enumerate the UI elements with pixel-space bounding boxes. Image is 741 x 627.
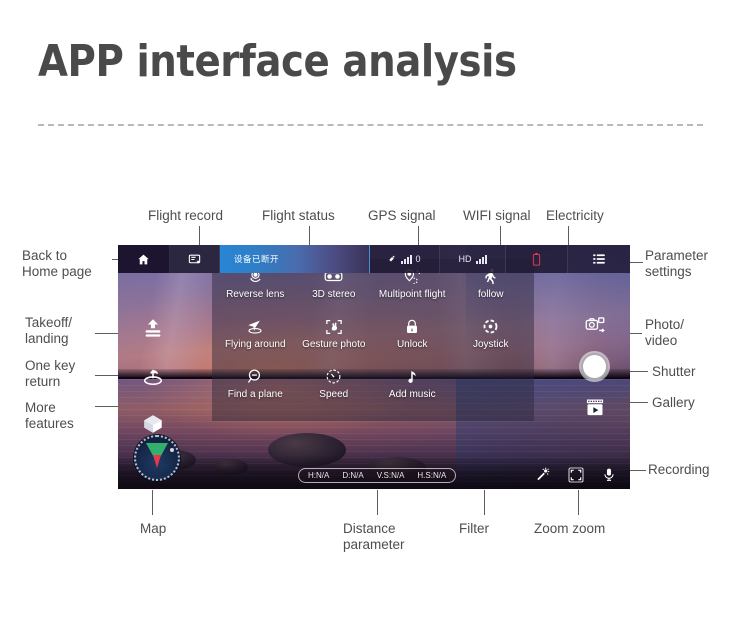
annotation-takeoff-landing: Takeoff/ landing xyxy=(25,315,72,346)
menu-label: Reverse lens xyxy=(226,289,284,300)
annotation-wifi-signal: WIFI signal xyxy=(463,208,531,224)
photo-video-switch-button[interactable] xyxy=(585,315,605,335)
gallery-icon xyxy=(585,398,605,418)
annotation-zoom-zoom: Zoom zoom xyxy=(534,521,605,537)
menu-item-follow[interactable]: follow xyxy=(452,267,531,317)
signal-bars-icon xyxy=(476,255,487,264)
leader-filter xyxy=(484,490,485,515)
photo-video-switch-icon xyxy=(585,315,605,335)
app-screen: 设备已断开 0 HD xyxy=(118,245,630,489)
annotation-recording: Recording xyxy=(648,462,710,478)
annotation-photo-video: Photo/ video xyxy=(645,317,684,348)
telemetry-height: H:N/A xyxy=(308,471,329,480)
zoom-button[interactable] xyxy=(568,467,584,483)
wifi-quality-label: HD xyxy=(459,254,472,264)
compass-map-widget[interactable] xyxy=(134,435,180,481)
compass-needle xyxy=(153,455,161,468)
satellite-icon xyxy=(388,254,398,264)
more-features-button[interactable] xyxy=(142,413,164,435)
one-key-return-button[interactable] xyxy=(142,365,164,387)
telemetry-distance: D:N/A xyxy=(342,471,363,480)
filter-button[interactable] xyxy=(534,467,550,483)
microphone-icon xyxy=(602,466,616,483)
menu-label: Add music xyxy=(389,389,436,400)
music-note-icon xyxy=(405,367,420,386)
annotation-back-to-home: Back to Home page xyxy=(22,248,92,279)
menu-label: follow xyxy=(478,289,504,300)
annotation-map: Map xyxy=(140,521,166,537)
title-divider xyxy=(38,124,703,126)
lock-icon xyxy=(404,317,420,336)
annotation-filter: Filter xyxy=(459,521,489,537)
leader-map xyxy=(152,490,153,515)
paper-plane-orbit-icon xyxy=(246,317,264,336)
speedometer-icon xyxy=(325,367,342,386)
annotation-one-key-return: One key return xyxy=(25,358,75,389)
gallery-button[interactable] xyxy=(585,398,605,418)
takeoff-landing-icon xyxy=(142,317,164,339)
battery-icon xyxy=(532,252,541,267)
menu-label: Find a plane xyxy=(228,389,283,400)
right-control-rail xyxy=(581,315,608,418)
flight-status-bar: 设备已断开 xyxy=(220,245,370,273)
one-key-return-icon xyxy=(142,365,164,387)
menu-item-3d-stereo[interactable]: 3D stereo xyxy=(295,267,374,317)
menu-label: Joystick xyxy=(473,339,509,350)
menu-label: Flying around xyxy=(225,339,286,350)
joystick-ring-icon xyxy=(482,317,499,336)
slide-root: APP interface analysis Flight record Fli… xyxy=(0,0,741,627)
flight-status-text: 设备已断开 xyxy=(234,253,279,265)
flight-record-icon xyxy=(188,253,201,266)
recording-button[interactable] xyxy=(602,466,616,483)
bottom-tool-bar xyxy=(534,466,616,483)
home-icon xyxy=(137,253,150,266)
annotation-gps-signal: GPS signal xyxy=(368,208,436,224)
shutter-button[interactable] xyxy=(581,353,608,380)
more-features-cube-icon xyxy=(142,413,164,435)
wifi-signal-indicator[interactable]: HD xyxy=(440,245,506,273)
menu-item-find-a-plane[interactable]: Find a plane xyxy=(216,367,295,417)
signal-bars-icon xyxy=(401,255,412,264)
menu-label: 3D stereo xyxy=(312,289,355,300)
menu-item-joystick[interactable]: Joystick xyxy=(452,317,531,367)
menu-item-empty xyxy=(452,367,531,417)
annotation-distance-parameter: Distance parameter xyxy=(343,521,405,552)
annotation-shutter: Shutter xyxy=(652,364,696,380)
top-status-bar: 设备已断开 0 HD xyxy=(118,245,630,273)
menu-label: Multipoint flight xyxy=(379,289,446,300)
flight-record-button[interactable] xyxy=(170,245,220,273)
menu-item-multipoint-flight[interactable]: Multipoint flight xyxy=(373,267,452,317)
back-to-home-button[interactable] xyxy=(118,245,170,273)
annotation-flight-status: Flight status xyxy=(262,208,335,224)
gps-signal-indicator[interactable]: 0 xyxy=(370,245,440,273)
gesture-frame-icon xyxy=(325,317,343,336)
menu-item-gesture-photo[interactable]: Gesture photo xyxy=(295,317,374,367)
distance-parameter-panel: H:N/A D:N/A V.S:N/A H.S:N/A xyxy=(298,468,456,483)
annotation-flight-record: Flight record xyxy=(148,208,223,224)
page-title: APP interface analysis xyxy=(38,36,517,87)
menu-label: Speed xyxy=(319,389,348,400)
annotation-parameter-settings: Parameter settings xyxy=(645,248,708,279)
menu-item-flying-around[interactable]: Flying around xyxy=(216,317,295,367)
magic-wand-filter-icon xyxy=(534,467,550,483)
zoom-brackets-icon xyxy=(568,467,584,483)
magnifier-minus-icon xyxy=(247,367,264,386)
menu-label: Unlock xyxy=(397,339,428,350)
telemetry-hspeed: H.S:N/A xyxy=(417,471,446,480)
left-control-rail xyxy=(142,317,164,435)
gps-satellite-count: 0 xyxy=(415,254,420,264)
parameter-settings-button[interactable] xyxy=(568,245,630,273)
menu-item-unlock[interactable]: Unlock xyxy=(373,317,452,367)
settings-list-icon xyxy=(592,252,606,266)
takeoff-landing-button[interactable] xyxy=(142,317,164,339)
leader-distance-parameter xyxy=(377,490,378,515)
menu-item-add-music[interactable]: Add music xyxy=(373,367,452,417)
feature-menu-panel: Reverse lens 3D stereo xyxy=(212,259,534,421)
compass-marker-dot xyxy=(170,448,174,452)
annotation-electricity: Electricity xyxy=(546,208,604,224)
electricity-indicator[interactable] xyxy=(506,245,568,273)
leader-zoom-zoom xyxy=(578,490,579,515)
annotation-gallery: Gallery xyxy=(652,395,695,411)
menu-item-speed[interactable]: Speed xyxy=(295,367,374,417)
menu-label: Gesture photo xyxy=(302,339,365,350)
annotation-more-features: More features xyxy=(25,400,74,431)
telemetry-vspeed: V.S:N/A xyxy=(377,471,405,480)
menu-item-reverse-lens[interactable]: Reverse lens xyxy=(216,267,295,317)
